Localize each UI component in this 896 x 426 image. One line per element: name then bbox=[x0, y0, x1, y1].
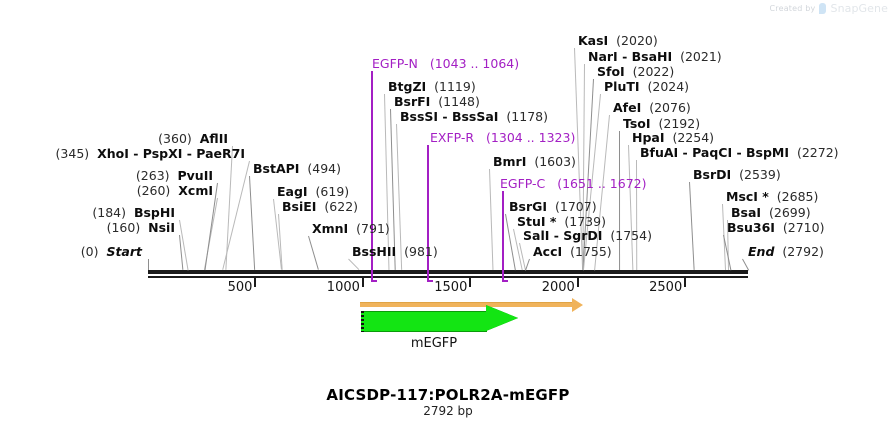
orf-arrow-head bbox=[572, 298, 583, 312]
enzyme-site-label[interactable]: PluTI (2024) bbox=[604, 80, 689, 93]
terminal-label-end[interactable]: End (2792) bbox=[748, 245, 824, 258]
gene-arrow-head[interactable] bbox=[486, 305, 518, 331]
enzyme-site-label[interactable]: BsrGI (1707) bbox=[509, 200, 597, 213]
site-leader-line bbox=[308, 236, 319, 270]
enzyme-site-label[interactable]: SfoI (2022) bbox=[597, 65, 674, 78]
ruler-tick-label: 1500 bbox=[434, 280, 469, 295]
enzyme-site-label[interactable]: BsaI (2699) bbox=[731, 206, 811, 219]
enzyme-site-label[interactable]: StuI * (1739) bbox=[517, 215, 606, 228]
primer-label[interactable]: EGFP-N (1043 .. 1064) bbox=[372, 57, 519, 70]
primer-marker-foot bbox=[502, 280, 508, 282]
enzyme-site-label[interactable]: EagI (619) bbox=[277, 185, 349, 198]
enzyme-site-label[interactable]: XmnI (791) bbox=[312, 222, 390, 235]
primer-marker-foot bbox=[371, 280, 377, 282]
enzyme-site-label[interactable]: BssSI - BssSaI (1178) bbox=[400, 110, 548, 123]
ruler-tick bbox=[362, 278, 364, 287]
snapgene-logo-icon bbox=[819, 3, 826, 14]
site-leader-line bbox=[619, 131, 620, 270]
enzyme-site-label[interactable]: SalI - SgrDI (1754) bbox=[523, 229, 652, 242]
snapgene-watermark: Created by SnapGene bbox=[769, 2, 888, 15]
site-leader-line bbox=[348, 259, 360, 271]
enzyme-site-label[interactable]: BsrDI (2539) bbox=[693, 168, 781, 181]
watermark-created-by: Created by bbox=[769, 4, 815, 13]
enzyme-site-label[interactable]: (263) PvuII bbox=[136, 169, 213, 182]
site-leader-line bbox=[148, 259, 149, 270]
primer-marker-line[interactable] bbox=[502, 191, 504, 280]
primer-label[interactable]: EXFP-R (1304 .. 1323) bbox=[430, 131, 575, 144]
enzyme-site-label[interactable]: (260) XcmI bbox=[137, 184, 213, 197]
enzyme-site-label[interactable]: AccI (1755) bbox=[533, 245, 612, 258]
gene-arrow-start-cap bbox=[361, 311, 364, 332]
enzyme-site-label[interactable]: KasI (2020) bbox=[578, 34, 658, 47]
enzyme-site-label[interactable]: AfeI (2076) bbox=[613, 101, 691, 114]
enzyme-site-label[interactable]: BfuAI - PaqCI - BspMI (2272) bbox=[640, 146, 839, 159]
enzyme-site-label[interactable]: NarI - BsaHI (2021) bbox=[588, 50, 722, 63]
ruler-tick-label: 500 bbox=[228, 280, 255, 295]
primer-label[interactable]: EGFP-C (1651 .. 1672) bbox=[500, 177, 646, 190]
ruler-tick bbox=[577, 278, 579, 287]
ruler-tick-label: 1000 bbox=[327, 280, 362, 295]
plasmid-map-canvas: Created by SnapGene 5001000150020002500 … bbox=[0, 0, 896, 426]
primer-marker-foot bbox=[427, 280, 433, 282]
site-leader-line bbox=[689, 182, 695, 270]
enzyme-site-label[interactable]: (360) AflII bbox=[158, 132, 228, 145]
site-leader-line bbox=[525, 259, 530, 270]
ruler-tick bbox=[684, 278, 686, 287]
site-leader-line bbox=[225, 146, 233, 270]
sequence-backbone bbox=[148, 270, 748, 274]
enzyme-site-label[interactable]: Bsu36I (2710) bbox=[727, 221, 824, 234]
gene-arrow-body[interactable] bbox=[361, 311, 487, 332]
enzyme-site-label[interactable]: BssHII (981) bbox=[352, 245, 438, 258]
enzyme-site-label[interactable]: HpaI (2254) bbox=[632, 131, 714, 144]
page-title: AICSDP-117:POLR2A-mEGFP bbox=[326, 386, 569, 404]
enzyme-site-label[interactable]: (345) XhoI - PspXI - PaeR7I bbox=[56, 147, 245, 160]
site-leader-line bbox=[489, 169, 493, 270]
enzyme-site-label[interactable]: BsiEI (622) bbox=[282, 200, 358, 213]
enzyme-site-label[interactable]: (184) BspHI bbox=[92, 206, 175, 219]
primer-marker-line[interactable] bbox=[427, 145, 429, 280]
ruler-tick bbox=[254, 278, 256, 287]
enzyme-site-label[interactable]: BstAPI (494) bbox=[253, 162, 341, 175]
sequence-backbone-shadow bbox=[148, 276, 748, 278]
sequence-length: 2792 bp bbox=[423, 404, 473, 418]
enzyme-site-label[interactable]: BmrI (1603) bbox=[493, 155, 576, 168]
enzyme-site-label[interactable]: TsoI (2192) bbox=[623, 117, 700, 130]
site-leader-line bbox=[505, 214, 516, 270]
enzyme-site-label[interactable]: BsrFI (1148) bbox=[394, 95, 480, 108]
ruler-tick-label: 2000 bbox=[542, 280, 577, 295]
ruler-tick-label: 2500 bbox=[649, 280, 684, 295]
site-leader-line bbox=[249, 176, 255, 270]
orf-arrow-shaft bbox=[360, 302, 574, 307]
watermark-brand: SnapGene bbox=[830, 2, 888, 15]
site-leader-line bbox=[628, 145, 633, 270]
terminal-label-start[interactable]: (0) Start bbox=[81, 245, 142, 258]
enzyme-site-label[interactable]: BtgZI (1119) bbox=[388, 80, 476, 93]
enzyme-site-label[interactable]: MscI * (2685) bbox=[726, 190, 818, 203]
site-leader-line bbox=[742, 259, 749, 270]
gene-label-megfp: mEGFP bbox=[411, 336, 457, 351]
enzyme-site-label[interactable]: (160) NsiI bbox=[107, 221, 175, 234]
ruler-tick bbox=[469, 278, 471, 287]
